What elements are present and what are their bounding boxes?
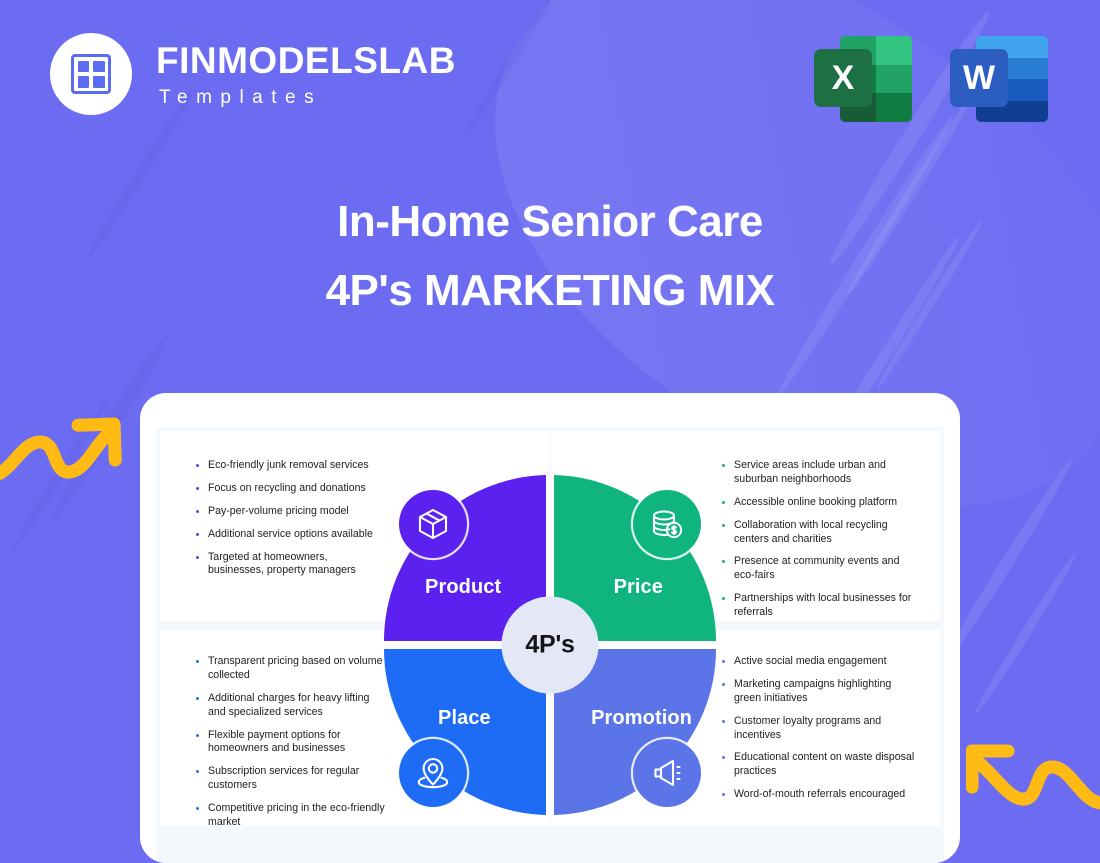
list-item: Marketing campaigns highlighting green i… — [719, 678, 915, 706]
excel-badge-letter: X — [814, 49, 872, 107]
list-item: Presence at community events and eco-fai… — [719, 555, 915, 583]
list-item: Additional charges for heavy lifting and… — [193, 692, 385, 720]
list-item: Flexible payment options for homeowners … — [193, 729, 385, 757]
panel-promotion: Active social media engagement Marketing… — [551, 630, 941, 826]
list-item: Eco-friendly junk removal services — [193, 459, 385, 473]
page-header: FINMODELSLAB Templates X W — [0, 0, 1100, 150]
brand-subtitle: Templates — [156, 88, 456, 107]
brand-logo: FINMODELSLAB Templates — [50, 33, 456, 115]
list-item: Competitive pricing in the eco-friendly … — [193, 802, 385, 830]
bullet-list-place: Transparent pricing based on volume coll… — [193, 655, 385, 839]
word-icon: W — [950, 27, 1048, 122]
list-item: Active social media engagement — [719, 655, 915, 669]
excel-icon: X — [814, 27, 912, 122]
content-card: Eco-friendly junk removal services Focus… — [140, 393, 960, 863]
list-item: Transparent pricing based on volume coll… — [193, 655, 385, 683]
grid-squares-icon — [50, 33, 132, 115]
bullet-list-promotion: Active social media engagement Marketing… — [719, 655, 915, 811]
squiggle-arrow-down-left-icon — [966, 733, 1100, 834]
office-format-icons: X W — [814, 27, 1048, 122]
list-item: Partnerships with local businesses for r… — [719, 592, 915, 620]
list-item: Service areas include urban and suburban… — [719, 459, 915, 487]
panel-price: Service areas include urban and suburban… — [551, 431, 941, 621]
list-item: Subscription services for regular custom… — [193, 765, 385, 793]
bullet-list-product: Eco-friendly junk removal services Focus… — [193, 459, 385, 587]
word-badge-letter: W — [950, 49, 1008, 107]
list-item: Word-of-mouth referrals encouraged — [719, 788, 915, 802]
panel-place: Transparent pricing based on volume coll… — [160, 630, 550, 826]
card-inner-panel: Eco-friendly junk removal services Focus… — [156, 427, 944, 863]
panel-product: Eco-friendly junk removal services Focus… — [160, 431, 550, 621]
list-item: Accessible online booking platform — [719, 496, 915, 510]
list-item: Additional service options available — [193, 528, 385, 542]
list-item: Pay-per-volume pricing model — [193, 505, 385, 519]
list-item: Focus on recycling and donations — [193, 482, 385, 496]
list-item: Educational content on waste disposal pr… — [719, 751, 915, 779]
list-item: Targeted at homeowners, businesses, prop… — [193, 551, 385, 579]
brand-logo-text: FINMODELSLAB Templates — [156, 42, 456, 107]
brand-title: FINMODELSLAB — [156, 42, 456, 79]
bullet-list-price: Service areas include urban and suburban… — [719, 459, 915, 629]
title-line-1: In-Home Senior Care — [0, 196, 1100, 248]
page-title: In-Home Senior Care 4P's MARKETING MIX — [0, 196, 1100, 317]
list-item: Customer loyalty programs and incentives — [719, 715, 915, 743]
title-line-2: 4P's MARKETING MIX — [0, 265, 1100, 317]
list-item: Collaboration with local recycling cente… — [719, 519, 915, 547]
squiggle-arrow-up-right-icon — [0, 398, 126, 499]
